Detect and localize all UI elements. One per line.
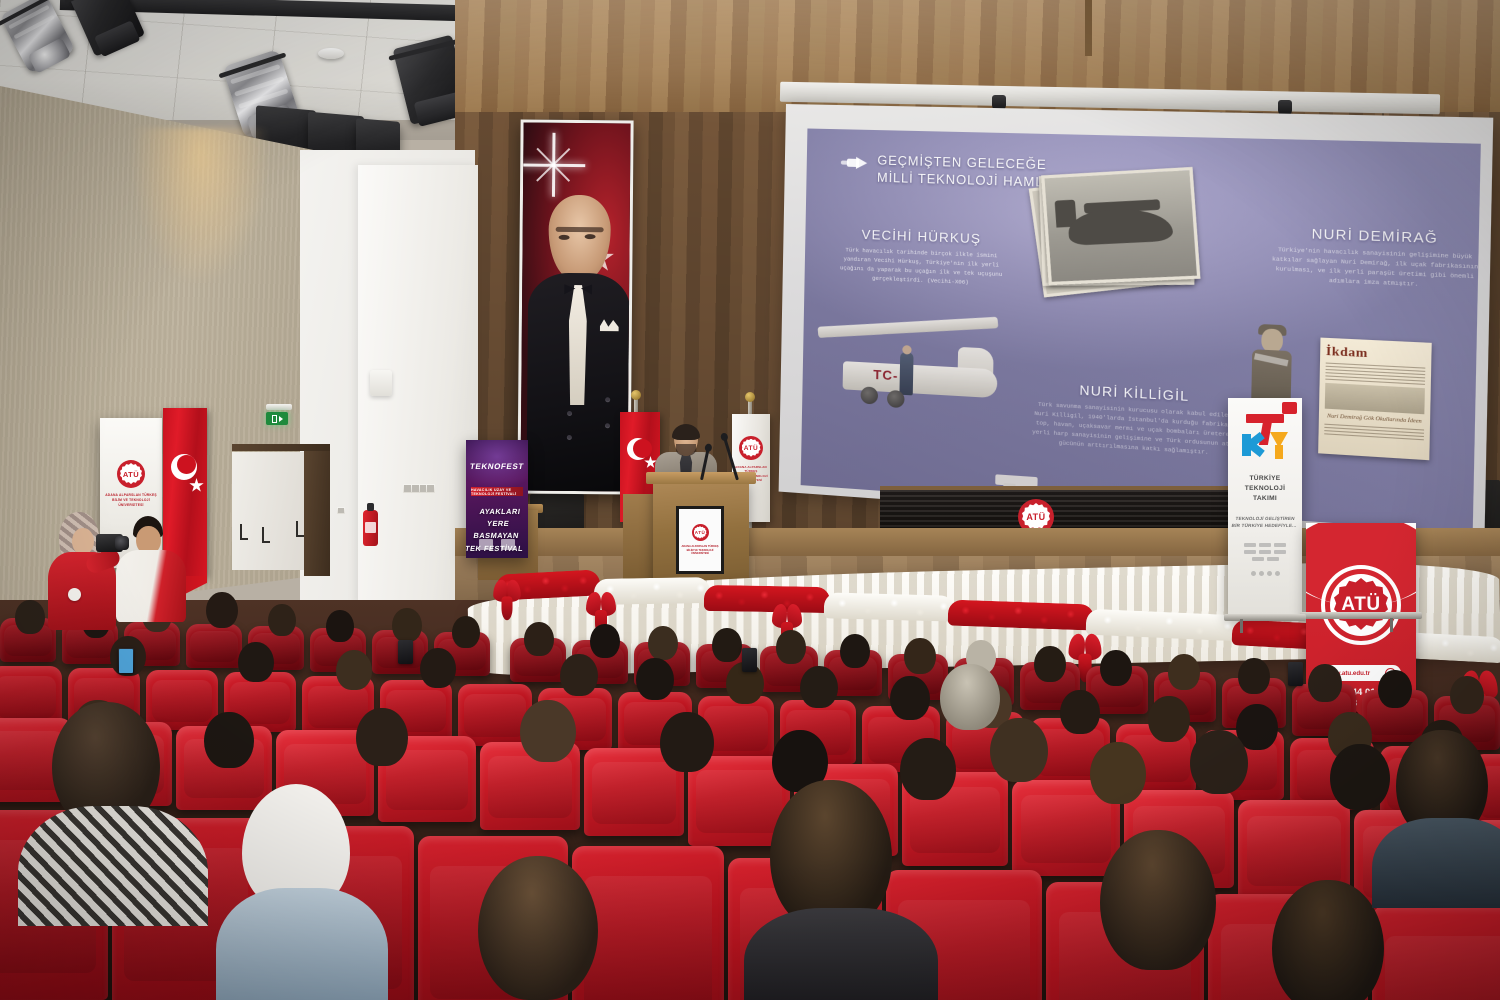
audience-head: [1060, 690, 1100, 734]
teknofest-logo-text: TEKNOFEST: [469, 462, 524, 471]
portrait-starburst-flare: [521, 133, 586, 198]
slide-block-vecihi-hurkus: VECİHİ HÜRKUŞ Türk havacılık tarihinde b…: [835, 226, 1009, 289]
tty-slogan: TEKNOLOJİ GELİŞTİREN BİR TÜRKİYE HEDEFİY…: [1232, 516, 1299, 530]
coat-hook-icon: [262, 527, 270, 543]
stage-bow-decoration: [493, 580, 521, 620]
audience-head: [1090, 742, 1146, 804]
door-frame-header: [232, 444, 330, 451]
smoke-detector-icon: [318, 48, 344, 59]
slide-block-nuri-killigil: NURİ KİLLİGİL Türk savunma sanayisinin k…: [1030, 380, 1240, 460]
red-flower-run: [948, 599, 1095, 630]
wall-mounted-unit: [370, 370, 392, 396]
emergency-light-housing: [266, 404, 292, 410]
lectern-display-screen: ATÜ ADANA ALPARSLAN TÜRKEŞ BİLİM VE TEKN…: [676, 506, 724, 574]
photographer-badge: [68, 588, 81, 601]
audience-head: [15, 600, 45, 634]
audience-head: [420, 648, 456, 688]
audience-head-foreground: [1100, 830, 1216, 970]
slide-vintage-aircraft-illustration: TC-: [808, 307, 1016, 440]
audience-head: [590, 624, 620, 658]
slide-photo-aircraft: [1041, 167, 1200, 285]
audience-head: [712, 628, 742, 662]
extinguisher-label: [365, 522, 376, 533]
light-switch-icon[interactable]: [337, 507, 345, 514]
audience-head: [238, 642, 274, 682]
banner-foot: [1240, 619, 1243, 633]
audience-head: [890, 676, 930, 720]
audience-head: [520, 700, 576, 762]
slide-header: GEÇMİŞTEN GELECEĞE MİLLİ TEKNOLOJİ HAMLE…: [840, 151, 1068, 191]
extinguisher-nozzle: [367, 503, 374, 511]
audience-head: [1168, 654, 1200, 690]
audience-head: [1308, 664, 1342, 702]
aircraft-registration: TC-: [873, 367, 898, 384]
portrait-button: [567, 435, 572, 440]
red-flower-run: [704, 585, 830, 613]
audience-shoulders: [744, 908, 938, 1000]
portrait-button: [605, 423, 610, 428]
tty-name: TÜRKİYE TEKNOLOJİ TAKIMI: [1245, 474, 1285, 504]
flag-finial: [745, 392, 755, 402]
atu-logo-ring: ATÜ: [1321, 565, 1401, 645]
coat-hook-icon: [296, 521, 304, 537]
audience-head: [660, 712, 714, 772]
lectern-screen-text: ADANA ALPARSLAN TÜRKEŞ BİLİM VE TEKNOLOJ…: [680, 545, 720, 556]
slide-photo-stack: [1041, 167, 1200, 285]
audience-head-foreground: [478, 856, 598, 1000]
smartphone-icon: [1288, 662, 1303, 686]
teknofest-slogan-line2: YERE: [468, 518, 528, 530]
banner-base: [1300, 612, 1422, 619]
tty-name-line3: TAKIMI: [1245, 494, 1285, 504]
audience-head: [900, 738, 956, 800]
teknofest-sponsor-logos: [466, 539, 528, 550]
tty-corner-logo: [1282, 402, 1297, 414]
atu-seal-text: ATÜ: [744, 445, 758, 452]
exit-arrow-glyph: [279, 416, 283, 422]
flag-star: [189, 478, 204, 493]
wall-spotlight-glow: [110, 128, 290, 448]
tty-name-line1: TÜRKİYE: [1245, 474, 1285, 484]
tty-slogan-line1: TEKNOLOJİ GELİŞTİREN: [1232, 516, 1298, 523]
smartphone-icon: [398, 640, 413, 664]
audience-shoulders: [18, 806, 208, 926]
atu-seal-icon: ATÜ: [117, 460, 145, 488]
audience-head: [204, 712, 254, 768]
tty-slogan-line2: BİR TÜRKİYE HEDEFİYLE...: [1232, 523, 1298, 530]
slide-newspaper-clipping: İkdam Nuri Demirağ Gök Okullarında İdeen: [1318, 338, 1432, 461]
audience-head: [776, 630, 806, 664]
newspaper-text-lines: [1325, 362, 1425, 384]
teknofest-banner: TEKNOFEST HAVACILIK UZAY VE TEKNOLOJİ FE…: [466, 440, 528, 558]
smartphone-icon: [118, 648, 134, 674]
lectern-logo-text: ATÜ: [695, 530, 705, 535]
ataturk-portrait: [517, 120, 633, 495]
audience-head: [356, 708, 408, 766]
audience-head: [1034, 646, 1066, 682]
newspaper-photo: [1325, 383, 1425, 414]
atu-seal-icon: ATÜ: [739, 436, 763, 460]
flag-crescent: [627, 438, 649, 460]
white-flower-run: [824, 592, 955, 621]
audience-head: [648, 626, 678, 660]
audience-head: [1100, 650, 1132, 686]
photographer-face: [72, 528, 94, 554]
audience-head: [268, 604, 296, 636]
slide-block-body: Türk havacılık tarihinde birçok ilkle is…: [835, 245, 1009, 289]
newspaper-masthead: İkdam: [1326, 343, 1426, 364]
audience-head: [560, 654, 598, 696]
audience-head: [990, 718, 1048, 782]
teknofest-slogan-line1: AYAKLARI: [470, 506, 528, 518]
auditorium-photo: GEÇMİŞTEN GELECEĞE MİLLİ TEKNOLOJİ HAMLE…: [0, 0, 1500, 1000]
atu-banner-caption: ADANA ALPARSLAN TÜRKEŞ BİLİM VE TEKNOLOJ…: [101, 493, 161, 508]
atu-banner-caption-line2: BİLİM VE TEKNOLOJİ ÜNİVERSİTESİ: [101, 498, 161, 508]
portrait-eye: [585, 234, 596, 239]
presentation-slide: GEÇMİŞTEN GELECEĞE MİLLİ TEKNOLOJİ HAMLE…: [801, 128, 1481, 532]
audience-head: [206, 592, 238, 628]
audience-head: [636, 658, 674, 700]
smartphone-icon: [742, 648, 757, 672]
coat-hook-icon: [240, 524, 248, 540]
audience-head: [1450, 676, 1484, 714]
banner-foot: [1390, 618, 1393, 632]
audience-head: [1148, 696, 1190, 742]
audience-head: [1330, 744, 1390, 810]
light-switch-icon[interactable]: [403, 484, 435, 493]
tty-social-icons: [1251, 571, 1280, 576]
auditorium-seat: [146, 670, 218, 730]
audience-head: [1378, 670, 1412, 708]
audience-head: [1238, 658, 1270, 694]
flag-finial: [631, 390, 641, 400]
banner-base: [1224, 614, 1306, 621]
exit-sign-icon: [266, 412, 288, 425]
attendee-jacket: [116, 550, 186, 622]
stage-atu-logo-text: ATÜ: [1026, 512, 1045, 522]
portrait-eye: [559, 235, 570, 240]
audience-head: [336, 650, 372, 690]
audience-shoulders: [1372, 818, 1500, 908]
audience-shoulders: [216, 888, 388, 1000]
audience-head-foreground: [1272, 880, 1384, 1000]
audience-head-foreground: [940, 664, 1000, 730]
vent-divider: [1085, 0, 1092, 56]
turkiye-teknoloji-takimi-banner: TÜRKİYE TEKNOLOJİ TAKIMI TEKNOLOJİ GELİŞ…: [1228, 398, 1302, 616]
rocket-icon: [841, 155, 868, 171]
auditorium-seat: [0, 666, 62, 726]
camera-lens-icon: [115, 536, 129, 550]
projection-screen: GEÇMİŞTEN GELECEĞE MİLLİ TEKNOLOJİ HAMLE…: [779, 104, 1494, 543]
audience-head: [452, 616, 480, 648]
speaker-beard: [676, 444, 696, 456]
audience-head: [326, 610, 354, 642]
newspaper-text-lines: [1324, 424, 1424, 441]
portrait-brows: [556, 227, 604, 232]
audience-head: [524, 622, 554, 656]
audience-head: [800, 666, 838, 708]
audience-head: [840, 634, 870, 668]
exit-door-glyph: [272, 415, 277, 423]
tty-logo-icon: [1236, 414, 1294, 466]
slide-block-nuri-demirag: NURİ DEMİRAĞ Türkiye'nin havacılık sanay…: [1272, 224, 1479, 291]
auditorium-seat: [186, 624, 242, 668]
audience-head: [392, 608, 422, 642]
flag-crescent: [171, 454, 197, 480]
portrait-button: [567, 411, 572, 416]
auditorium-seat: [1372, 906, 1500, 1000]
atu-banner-logo-text: ATÜ: [123, 470, 139, 479]
open-doorway: [232, 452, 310, 570]
fire-extinguisher-icon: [363, 510, 378, 546]
audience-head: [1190, 730, 1248, 794]
tty-name-line2: TEKNOLOJİ: [1245, 484, 1285, 494]
door-leaf: [304, 444, 330, 576]
portrait-button: [605, 397, 610, 402]
audience-head: [904, 638, 936, 674]
tty-sponsor-logos: [1238, 543, 1293, 561]
atu-seal-icon: ATÜ: [1330, 574, 1392, 636]
